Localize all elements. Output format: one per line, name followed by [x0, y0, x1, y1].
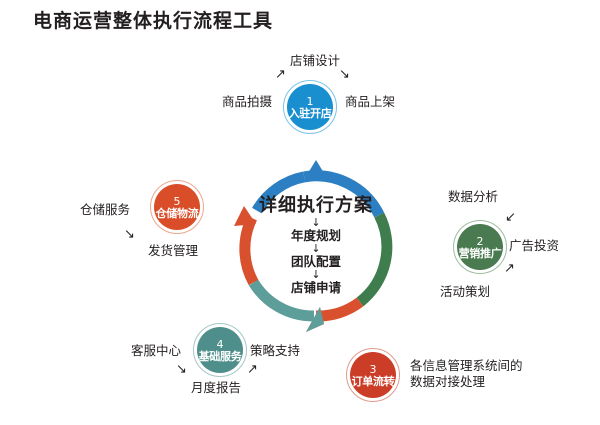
center-step-3: 店铺申请: [242, 281, 390, 294]
node-4-label-right: 策略支持: [250, 343, 300, 359]
center-content: 详细执行方案 ↓ 年度规划 ↓ 团队配置 ↓ 店铺申请: [242, 196, 390, 294]
node-3-order-flow[interactable]: 3 订单流转: [350, 352, 396, 398]
node-5-label-left: 仓储服务: [80, 202, 130, 218]
node-4-label-left: 客服中心: [131, 343, 181, 359]
node-1-number: 1: [307, 96, 314, 107]
node-1-label: 入驻开店: [289, 108, 332, 119]
node-2-label-bottom: 活动策划: [440, 284, 490, 300]
node-2-label: 营销推广: [459, 248, 502, 259]
node-2-label-right: 广告投资: [509, 238, 559, 254]
center-step-2: 团队配置: [242, 255, 390, 268]
arrow-to-node-2-top-icon: ↙: [505, 211, 516, 224]
arrow-to-node-1-left-icon: ↗: [275, 68, 286, 81]
node-3-label: 订单流转: [352, 376, 395, 387]
node-3-label-right: 各信息管理系统间的数据对接处理: [410, 358, 532, 389]
center-heading: 详细执行方案: [242, 196, 390, 216]
node-5-label-bottom: 发货管理: [148, 243, 198, 259]
center-arrow-1: ↓: [242, 217, 390, 228]
node-4-number: 4: [217, 339, 224, 350]
node-4-label-bottom: 月度报告: [191, 380, 241, 396]
node-2-number: 2: [477, 236, 484, 247]
center-step-1: 年度规划: [242, 229, 390, 242]
node-1-label-right: 商品上架: [345, 94, 395, 110]
arrow-to-node-2-bottom-icon: ↗: [504, 262, 515, 275]
center-arrow-2: ↓: [242, 243, 390, 254]
center-arrow-3: ↓: [242, 269, 390, 280]
node-4-label: 基础服务: [199, 351, 242, 362]
node-3-number: 3: [370, 364, 377, 375]
arrow-to-node-4-right-icon: ↗: [247, 363, 258, 376]
arrow-to-node-1-right-icon: ↘: [339, 68, 350, 81]
page-title: 电商运营整体执行流程工具: [33, 6, 273, 33]
node-5-warehouse-logistics[interactable]: 5 仓储物流: [154, 184, 200, 230]
arrow-to-node-4-left-icon: ↘: [176, 363, 187, 376]
node-5-number: 5: [174, 196, 181, 207]
arrow-to-node-5-left-icon: ↘: [124, 228, 135, 241]
node-5-label: 仓储物流: [156, 208, 199, 219]
node-1-label-top: 店铺设计: [290, 53, 340, 69]
node-4-basic-service[interactable]: 4 基础服务: [197, 327, 243, 373]
diagram-canvas: 电商运营整体执行流程工具 详细执行方案: [0, 0, 600, 425]
node-2-label-top: 数据分析: [448, 189, 498, 205]
node-1-label-left: 商品拍摄: [222, 94, 272, 110]
node-1-entry-shop[interactable]: 1 入驻开店: [287, 84, 333, 130]
node-2-marketing[interactable]: 2 营销推广: [457, 224, 503, 270]
